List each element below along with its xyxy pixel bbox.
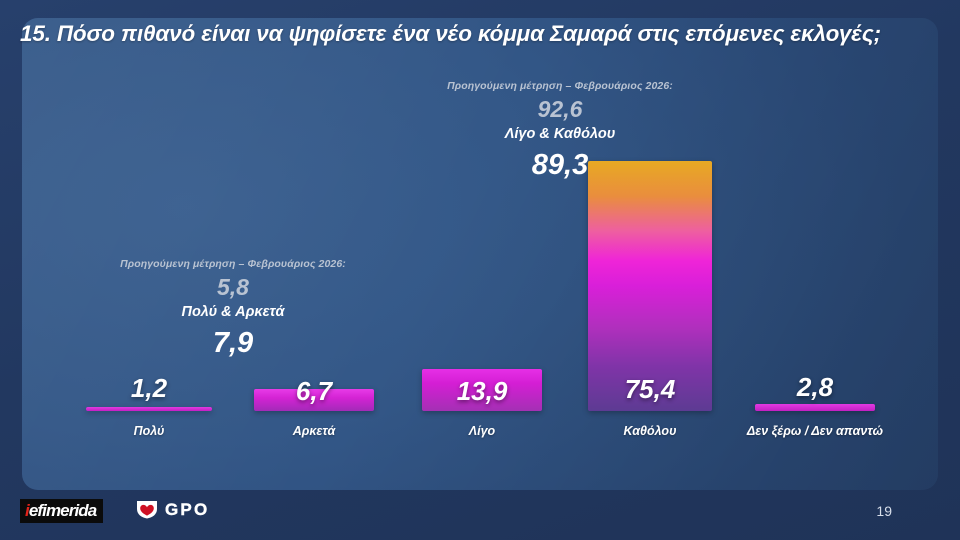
annotation-previous-value: 5,8 — [48, 276, 418, 299]
annotation-previous-value: 92,6 — [360, 98, 760, 121]
annotation-poly-arketa: Προηγούμενη μέτρηση – Φεβρουάριος 2026: … — [48, 258, 418, 358]
annotation-group-label: Λίγο & Καθόλου — [360, 126, 760, 142]
annotation-ligo-katholou: Προηγούμενη μέτρηση – Φεβρουάριος 2026: … — [360, 80, 760, 180]
brand-iefimerida[interactable]: iefimerida — [20, 499, 103, 523]
slide-footer: iefimerida GPO 19 — [0, 490, 960, 540]
annotation-group-value: 7,9 — [48, 329, 418, 358]
annotation-group-value: 89,3 — [360, 151, 760, 180]
page-title: 15. Πόσο πιθανό είναι να ψηφίσετε ένα νέ… — [20, 18, 890, 51]
brand-gpo-text: GPO — [165, 501, 209, 518]
heart-shield-icon — [136, 500, 158, 519]
annotation-previous-caption: Προηγούμενη μέτρηση – Φεβρουάριος 2026: — [48, 258, 418, 270]
annotation-previous-caption: Προηγούμενη μέτρηση – Φεβρουάριος 2026: — [360, 80, 760, 92]
slide-root: 15. Πόσο πιθανό είναι να ψηφίσετε ένα νέ… — [0, 0, 960, 540]
annotation-group-label: Πολύ & Αρκετά — [48, 304, 418, 320]
brand-gpo[interactable]: GPO — [136, 500, 209, 519]
page-number: 19 — [876, 503, 892, 519]
brand-iefimerida-name: efimerida — [29, 501, 97, 520]
